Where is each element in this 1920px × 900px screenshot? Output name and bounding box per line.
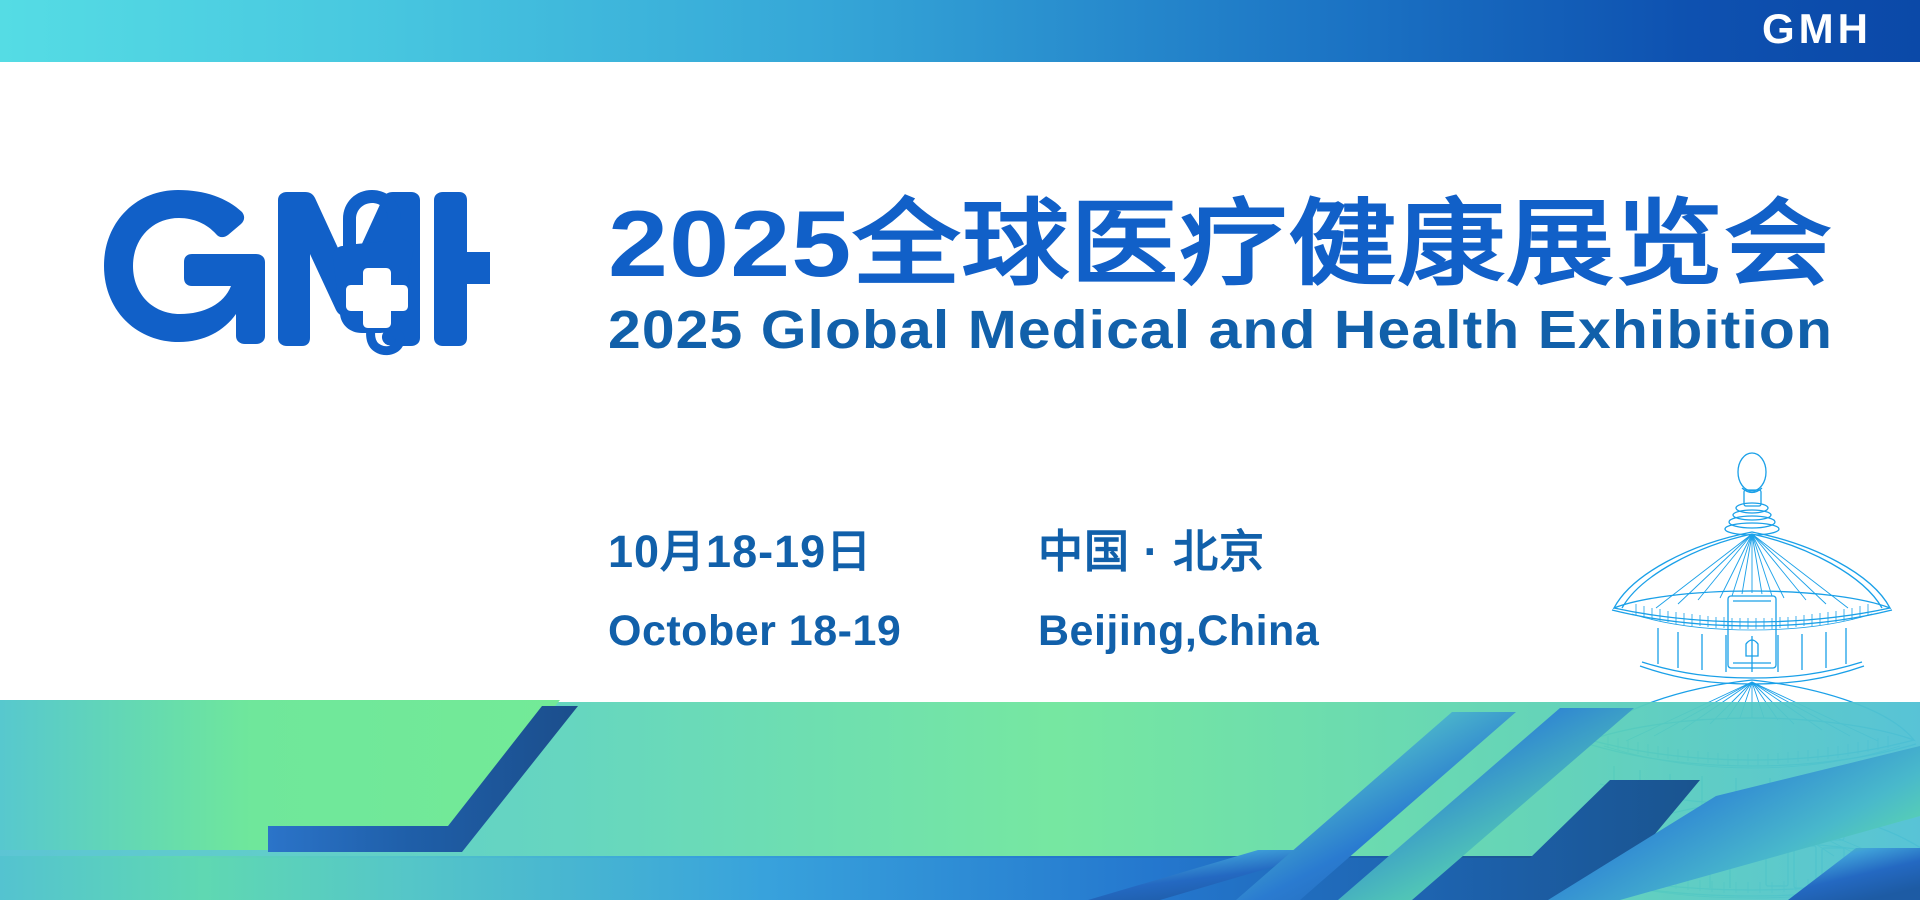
top-bar-brand-label: GMH xyxy=(1762,0,1872,62)
logo-letter-h xyxy=(434,192,490,346)
poster-canvas: GMH 2025全球医疗健康展览会 xyxy=(0,0,1920,900)
stethoscope-tube xyxy=(371,330,400,351)
title-chinese-text: 2025全球医疗健康展览会 xyxy=(608,191,1833,296)
gmh-logo-mark xyxy=(100,186,490,356)
event-info-row: 10月18-19日 October 18-19 中国 · 北京 Beijing,… xyxy=(608,528,1428,654)
event-location-chinese: 中国 · 北京 xyxy=(1038,528,1428,575)
title-block: 2025全球医疗健康展览会 2025 Global Medical and He… xyxy=(608,188,1838,362)
event-date-column: 10月18-19日 October 18-19 xyxy=(608,528,1038,654)
title-chinese-wrap: 2025全球医疗健康展览会 xyxy=(608,188,1838,296)
logo-letter-g xyxy=(104,190,265,344)
temple-finial xyxy=(1738,453,1766,491)
temple-roof-3 xyxy=(1570,800,1920,868)
deco-ribbon-4 xyxy=(1548,746,1920,900)
deco-blue-band-body xyxy=(0,780,1700,900)
title-english-svg: 2025 Global Medical and Health Exhibitio… xyxy=(608,298,1838,362)
deco-band-back xyxy=(0,702,1920,900)
temple-roof-1 xyxy=(1614,532,1890,608)
deco-blue-band xyxy=(0,856,1560,900)
deco-ribbon-3 xyxy=(1338,708,1634,900)
deco-ribbon-2 xyxy=(1236,712,1516,900)
deco-ribbon-1 xyxy=(1088,850,1330,900)
gmh-logo-svg xyxy=(100,186,490,356)
event-date-english: October 18-19 xyxy=(608,609,1038,654)
event-date-chinese: 10月18-19日 xyxy=(608,528,1038,575)
event-location-column: 中国 · 北京 Beijing,China xyxy=(1038,528,1428,654)
title-english-text: 2025 Global Medical and Health Exhibitio… xyxy=(608,300,1833,360)
temple-bracket-band-2 xyxy=(1604,736,1900,768)
title-english-wrap: 2025 Global Medical and Health Exhibitio… xyxy=(608,298,1838,362)
deco-green-parallelogram xyxy=(0,700,560,850)
top-gradient-bar: GMH xyxy=(0,0,1920,62)
temple-bracket-band-1 xyxy=(1632,604,1872,630)
deco-dark-chevron xyxy=(268,706,578,852)
temple-of-heaven-illustration xyxy=(1570,448,1920,900)
temple-upper-door xyxy=(1728,596,1776,668)
event-location-english: Beijing,China xyxy=(1038,609,1428,654)
temple-bracket-band-3 xyxy=(1576,864,1920,898)
deco-ribbon-5 xyxy=(1788,848,1920,900)
title-chinese-svg: 2025全球医疗健康展览会 xyxy=(608,188,1838,296)
temple-roof-2 xyxy=(1590,680,1914,740)
